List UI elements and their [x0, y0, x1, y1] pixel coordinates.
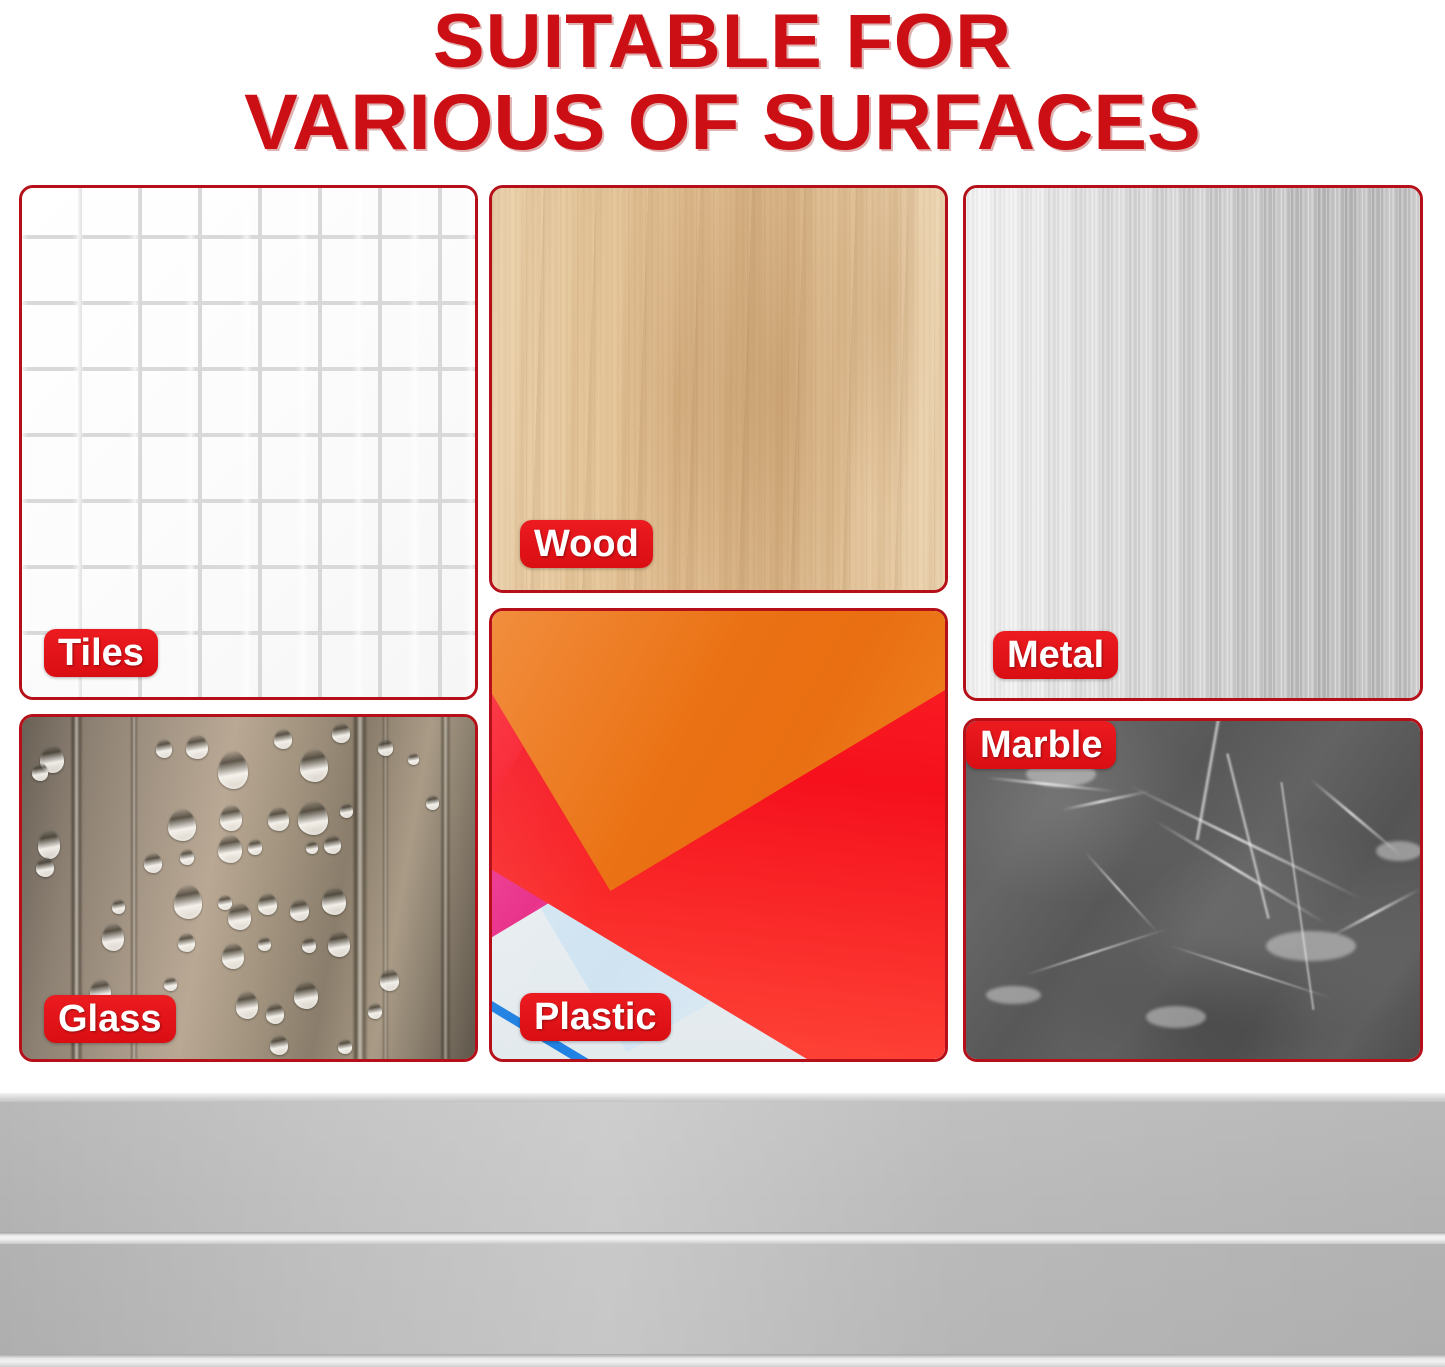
- metal-texture: [966, 188, 1420, 698]
- surface-label-glass: Glass: [44, 995, 176, 1043]
- panel-seam-middle: [0, 1232, 1445, 1244]
- surface-card-wood: Wood: [489, 185, 948, 593]
- surface-card-marble: Marble: [963, 718, 1423, 1062]
- surface-label-plastic: Plastic: [520, 993, 671, 1041]
- infographic-page: SUITABLE FOR VARIOUS OF SURFACES Tiles W…: [0, 0, 1445, 1367]
- page-title-line-2: VARIOUS OF SURFACES: [0, 82, 1445, 162]
- surface-card-metal: Metal: [963, 185, 1423, 701]
- panel-seam-top: [0, 1093, 1445, 1102]
- panel-seam-bottom: [0, 1354, 1445, 1367]
- plastic-texture: [492, 611, 945, 1059]
- surface-label-tiles: Tiles: [44, 629, 158, 677]
- page-title: SUITABLE FOR VARIOUS OF SURFACES: [0, 2, 1445, 162]
- surface-label-marble: Marble: [966, 721, 1116, 769]
- page-title-line-1: SUITABLE FOR: [0, 2, 1445, 82]
- surface-card-glass: Glass: [19, 714, 478, 1062]
- bottom-surface-photo: [0, 1093, 1445, 1367]
- surface-label-wood: Wood: [520, 520, 653, 568]
- surface-card-tiles: Tiles: [19, 185, 478, 700]
- marble-texture: [966, 721, 1420, 1059]
- surface-label-metal: Metal: [993, 631, 1118, 679]
- tiles-texture: [22, 188, 475, 697]
- surface-card-plastic: Plastic: [489, 608, 948, 1062]
